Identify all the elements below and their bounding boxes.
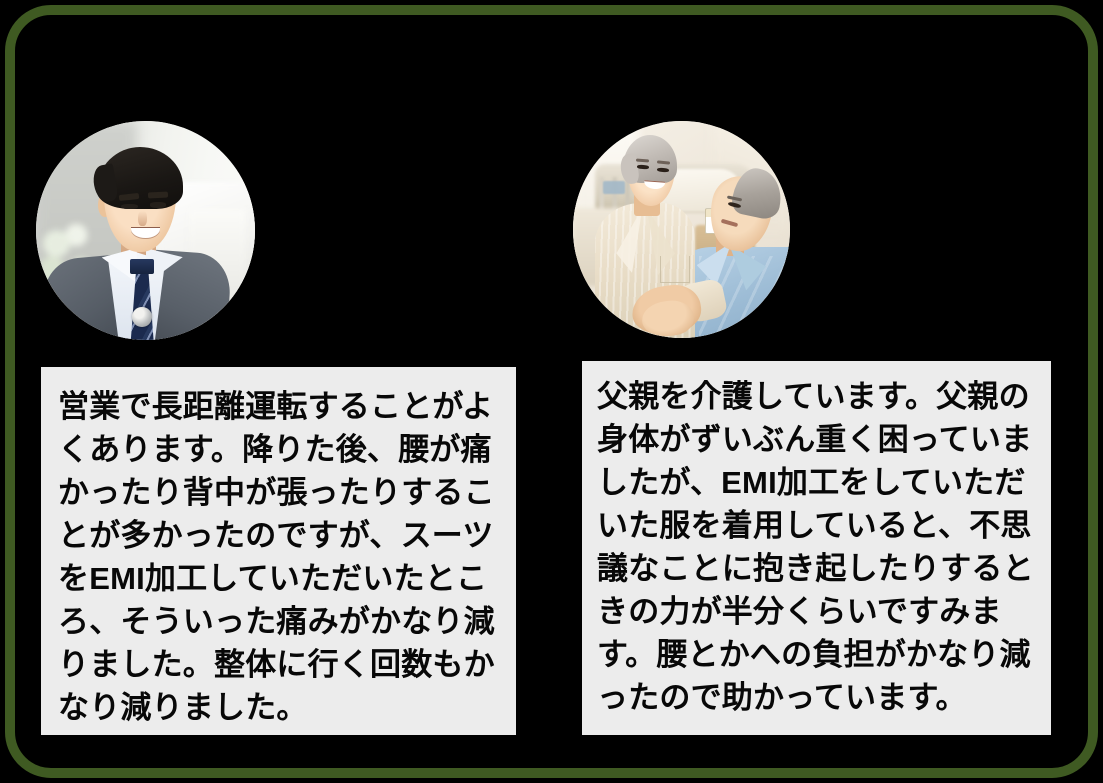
testimonial-slide: 営業で長距離運転することがよくあります。降りた後、腰が痛かったり背中が張ったりす… [0,0,1103,783]
photo-necktie-knot [130,259,154,274]
testimonial-text-right: 父親を介護しています。父親の身体がずいぶん重く困っていましたが、EMI加工をして… [597,375,1039,719]
photo-bed-rail-panel [603,181,625,194]
testimonial-column-left [36,121,516,340]
photo-nose [138,211,147,226]
avatar-sales-driver [36,121,255,340]
testimonial-text-left: 営業で長距離運転することがよくあります。降りた後、腰が痛かったり背中が張ったりす… [58,385,502,729]
testimonial-column-right [573,121,1051,338]
testimonial-card-left: 営業で長距離運転することがよくあります。降りた後、腰が痛かったり背中が張ったりす… [41,367,516,735]
photo-eye-right [150,202,166,207]
photo-woman-pocket [660,256,690,283]
photo-company-badge [132,307,152,327]
avatar-caregiver [573,121,790,338]
testimonial-card-right: 父親を介護しています。父親の身体がずいぶん重く困っていましたが、EMI加工をして… [582,361,1051,735]
